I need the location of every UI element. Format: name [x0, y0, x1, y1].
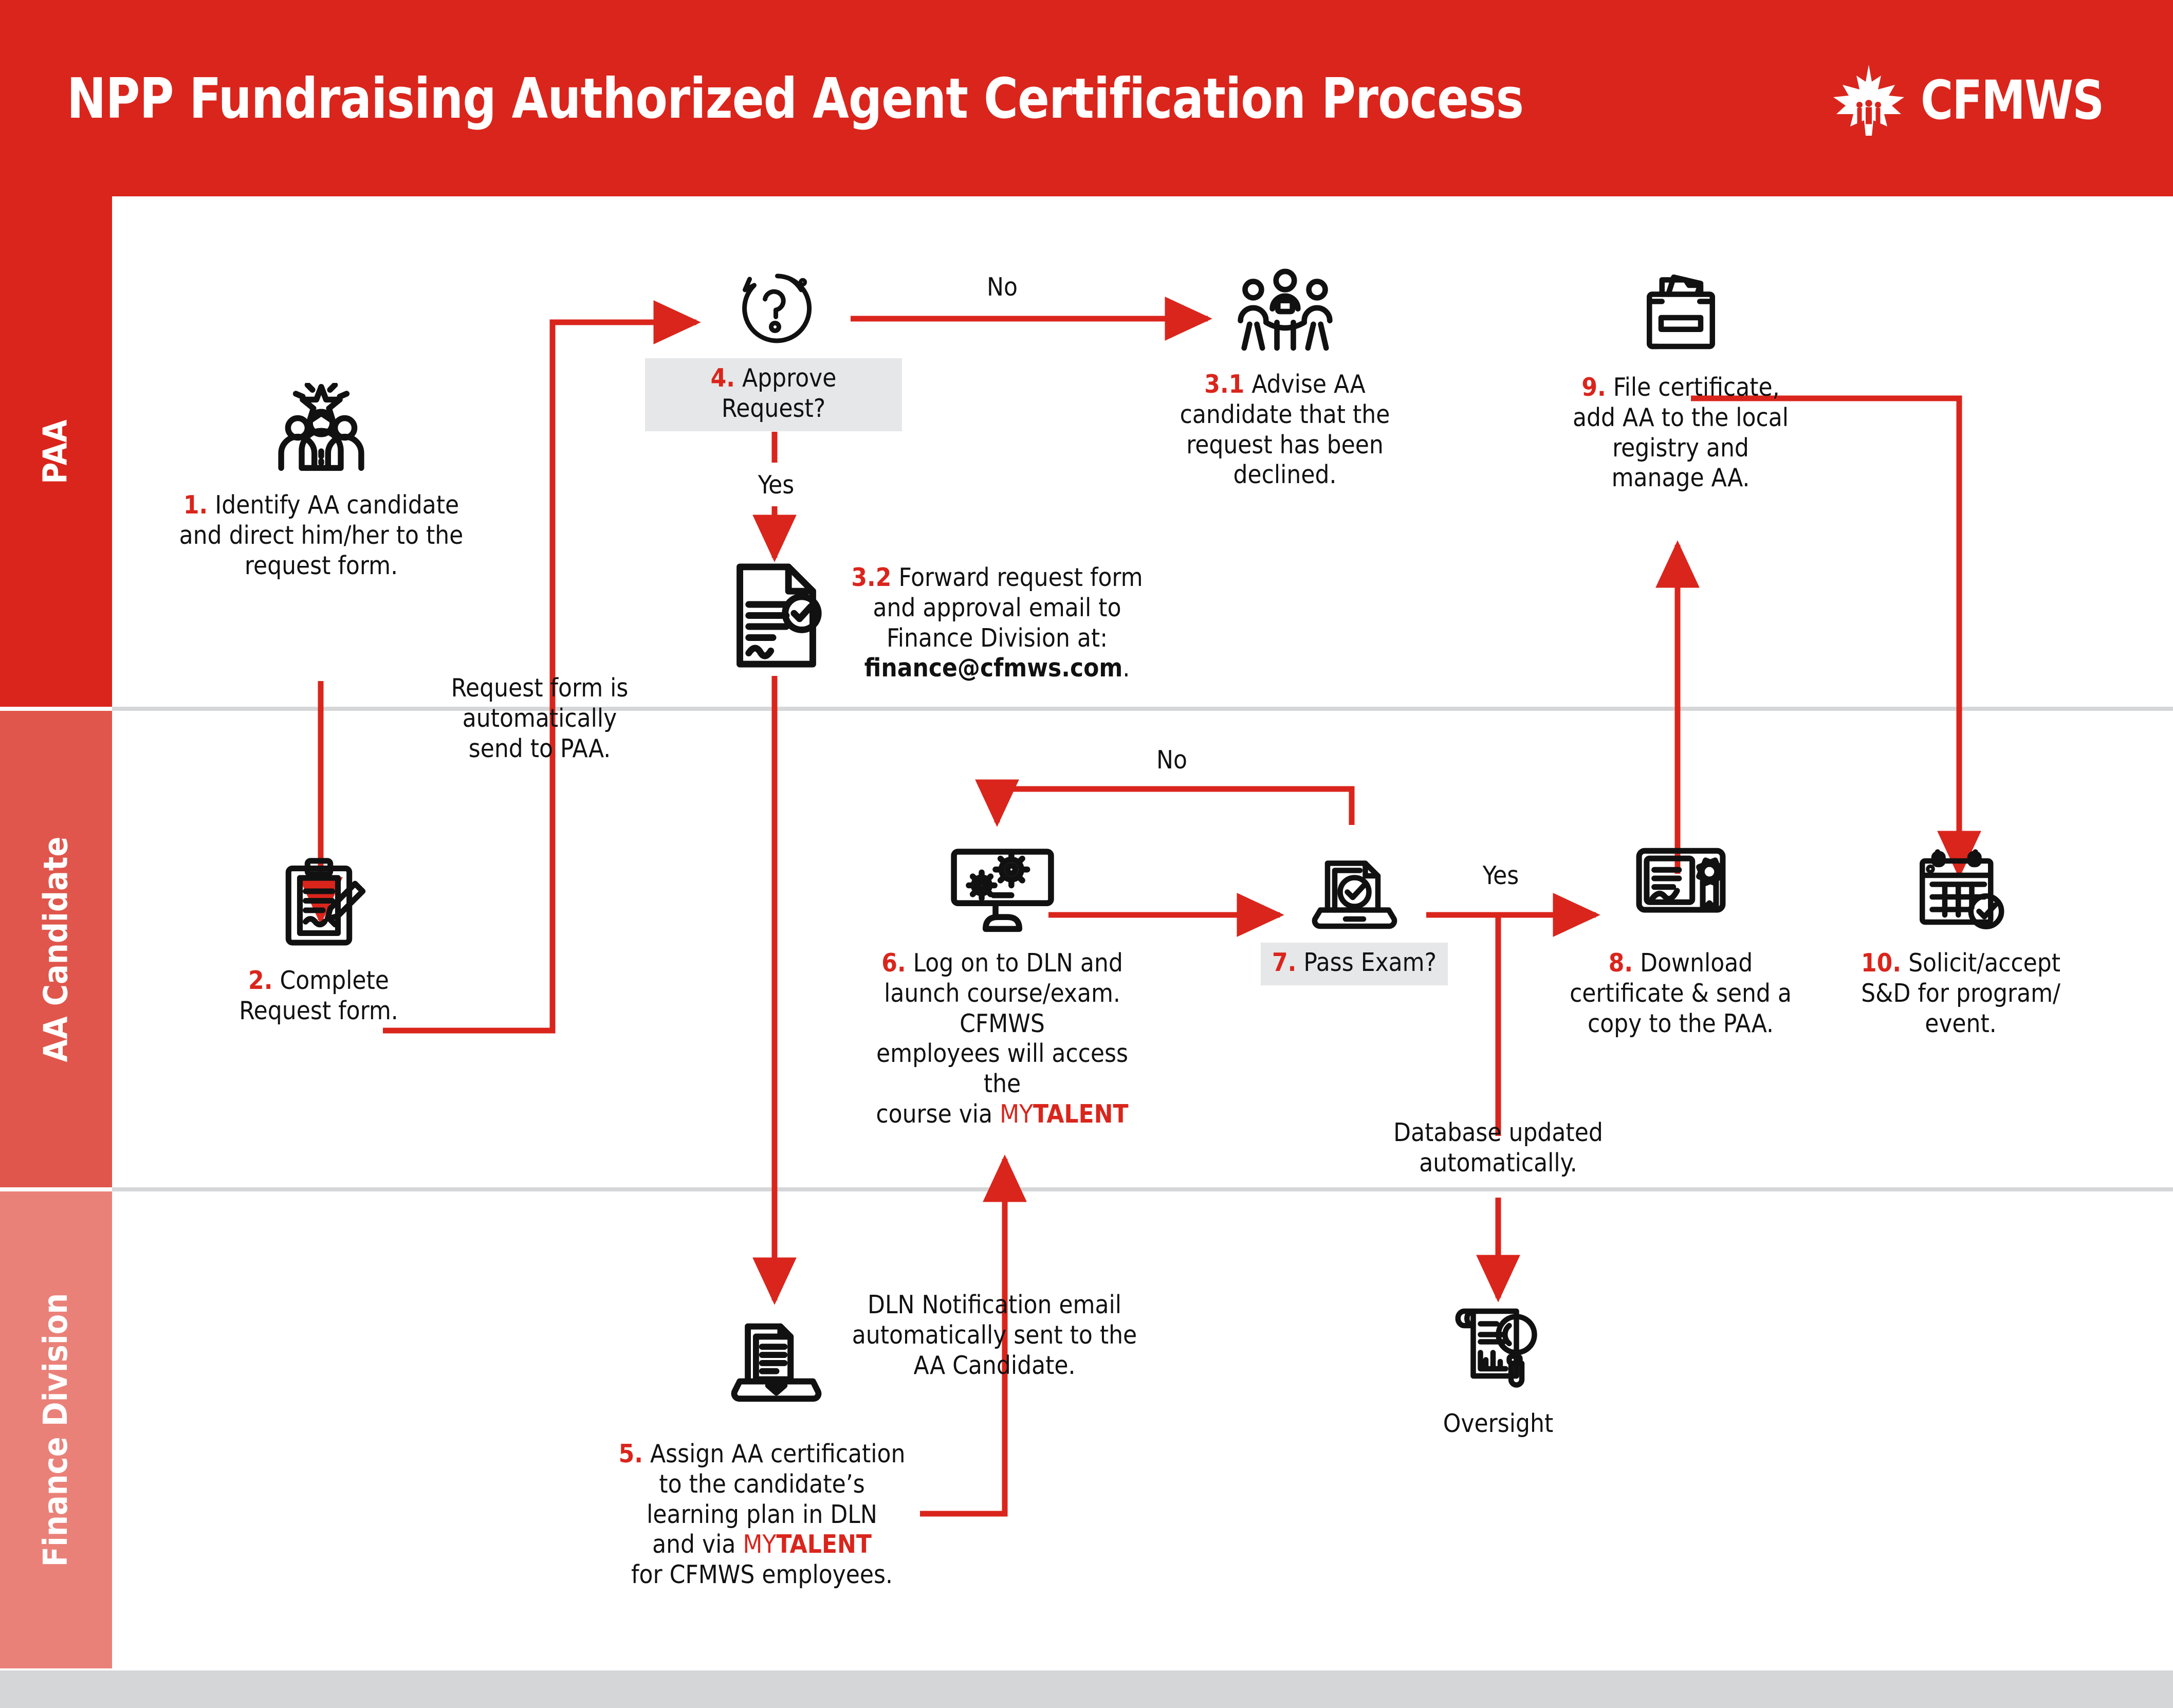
flowchart-page: NPP Fundraising Authorized Agent Certifi…	[0, 0, 2173, 1708]
node-step-9[interactable]: 9. File certificate, add AA to the local…	[1568, 267, 1794, 493]
node-step-1[interactable]: 1. Identify AA candidate and direct him/…	[175, 383, 468, 581]
certificate-ribbon-icon	[1560, 843, 1801, 933]
node-step-5-label: 5. Assign AA certification to the candid…	[604, 1439, 920, 1590]
node-step-2-label: 2. Complete Request form.	[206, 966, 432, 1026]
edge-label-exam-yes: Yes	[1460, 861, 1542, 890]
node-step-4[interactable]: 4. Approve Request?	[645, 270, 902, 431]
note-request-form-auto: Request form is automatically send to PA…	[442, 673, 637, 764]
node-step-4-label: 4. Approve Request?	[645, 358, 902, 431]
calendar-check-icon	[1848, 843, 2074, 933]
node-step-3-1-label: 3.1 Advise AA candidate that the request…	[1146, 370, 1424, 490]
node-step-8[interactable]: 8. Download certificate & send a copy to…	[1560, 843, 1801, 1039]
node-step-6-label: 6. Log on to DLN and launch course/exam.…	[858, 948, 1146, 1130]
wire-7-no-to-6	[997, 789, 1352, 825]
laptop-exam-check-icon	[1254, 843, 1454, 930]
node-step-9-label: 9. File certificate, add AA to the local…	[1568, 373, 1794, 493]
laptop-document-icon	[717, 1308, 835, 1406]
node-oversight[interactable]: Oversight	[1419, 1300, 1578, 1439]
edge-label-exam-no: No	[1131, 745, 1213, 775]
node-step-10[interactable]: 10. Solicit/accept S&D for program/ even…	[1848, 843, 2074, 1039]
node-step-7-label: 7. Pass Exam?	[1261, 943, 1448, 985]
node-step-3-1[interactable]: 3.1 Advise AA candidate that the request…	[1146, 267, 1424, 490]
node-step-10-label: 10. Solicit/accept S&D for program/ even…	[1848, 948, 2074, 1039]
file-box-icon	[1568, 267, 1794, 357]
monitor-gears-icon	[858, 838, 1146, 933]
note-dln-notification: DLN Notification email automatically sen…	[851, 1290, 1138, 1381]
report-magnifier-icon	[1419, 1300, 1578, 1390]
edge-label-approve-yes: Yes	[735, 470, 817, 500]
question-bubble-icon	[645, 270, 902, 347]
meeting-people-icon	[1146, 267, 1424, 352]
note-database-updated: Database updated automatically.	[1359, 1118, 1637, 1179]
node-step-6[interactable]: 6. Log on to DLN and launch course/exam.…	[858, 838, 1146, 1130]
edge-label-approve-no: No	[961, 272, 1043, 302]
node-step-8-label: 8. Download certificate & send a copy to…	[1560, 948, 1801, 1039]
clipboard-pencil-icon	[206, 853, 432, 948]
node-step-5-icon-wrap	[717, 1308, 835, 1406]
node-step-3-2-label: 3.2 Forward request form and approval em…	[843, 563, 1151, 684]
node-oversight-label: Oversight	[1419, 1409, 1578, 1439]
node-step-3-2-icon-wrap	[717, 560, 835, 671]
node-step-2[interactable]: 2. Complete Request form.	[206, 853, 432, 1026]
signed-document-icon	[717, 560, 835, 671]
people-star-icon	[175, 383, 468, 473]
node-step-7[interactable]: 7. Pass Exam?	[1254, 843, 1454, 985]
node-step-1-label: 1. Identify AA candidate and direct him/…	[175, 490, 468, 581]
